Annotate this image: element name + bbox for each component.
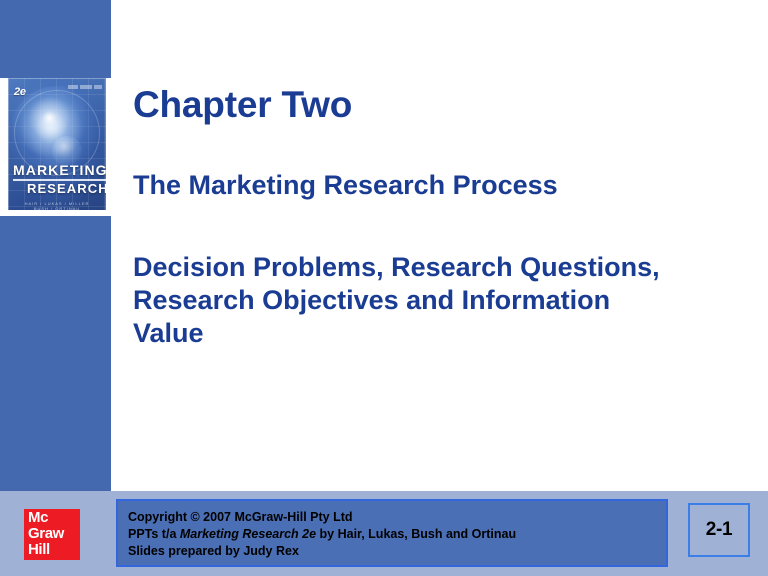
ppt-credit-book-title: Marketing Research 2e [180,527,316,541]
chapter-subtitle: The Marketing Research Process [133,127,733,201]
logo-line-mc: Mc [28,510,80,526]
slide-footer: Mc Graw Hill Copyright © 2007 McGraw-Hil… [0,491,768,576]
book-cover-edition-label: 2e [14,86,26,98]
sidebar-band-bottom [0,216,111,491]
sidebar-band-top [0,0,111,78]
copyright-line: Copyright © 2007 McGraw-Hill Pty Ltd [128,509,666,526]
chapter-title: Chapter Two [133,83,733,127]
book-cover-title-line1: MARKETING [13,162,106,181]
ppt-credit-prefix: PPTs t/a [128,527,180,541]
slides-prepared-by-line: Slides prepared by Judy Rex [128,543,666,560]
ppt-credit-line: PPTs t/a Marketing Research 2e by Hair, … [128,526,666,543]
mcgraw-hill-logo: Mc Graw Hill [24,509,80,560]
presentation-slide: 2e MARKETING RESEARCH HAIR / LUKAS / MIL… [0,0,768,576]
logo-line-hill: Hill [28,542,80,558]
copyright-notice-box: Copyright © 2007 McGraw-Hill Pty Ltd PPT… [116,499,668,567]
logo-line-graw: Graw [28,526,80,542]
ppt-credit-suffix: by Hair, Lukas, Bush and Ortinau [316,527,516,541]
book-cover-publisher-mark [68,85,102,89]
book-cover-underline [0,210,111,216]
slide-number-box: 2-1 [688,503,750,557]
book-cover-title-line2: RESEARCH [27,181,106,196]
slide-number: 2-1 [706,519,733,541]
book-cover-image: 2e MARKETING RESEARCH HAIR / LUKAS / MIL… [8,78,106,216]
chapter-topics: Decision Problems, Research Questions, R… [133,201,673,350]
slide-title-block: Chapter Two The Marketing Research Proce… [133,83,733,350]
